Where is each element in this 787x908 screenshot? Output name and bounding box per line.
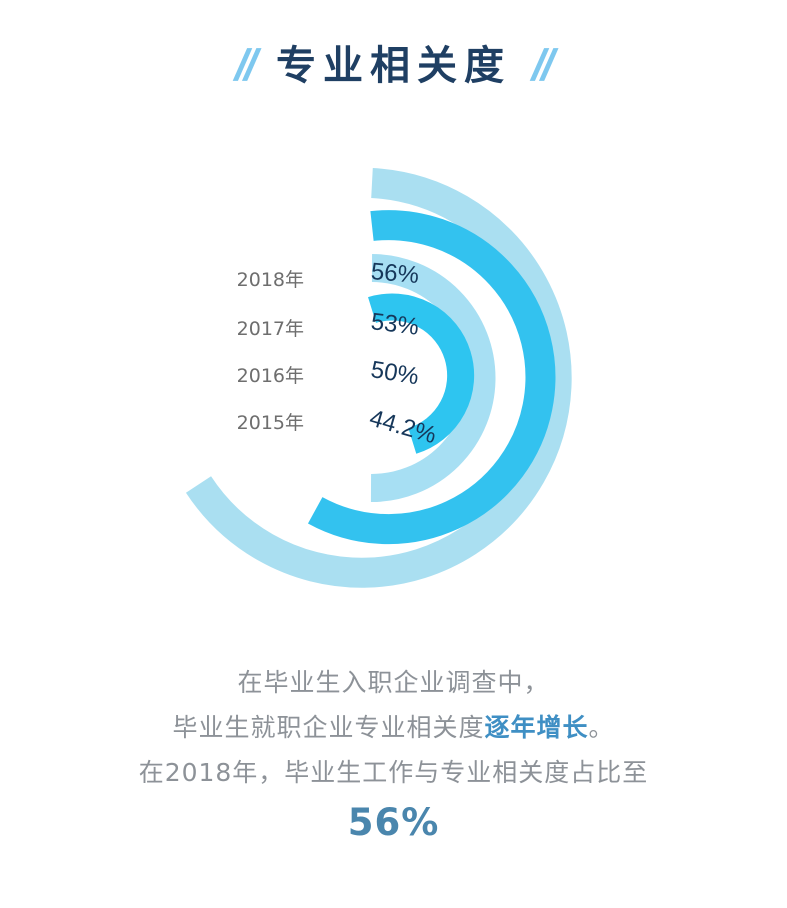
radial-bar-chart: 2018年 2017年 2016年 2015年 56% 53% 50% 44.2…: [0, 118, 787, 638]
year-label-2016: 2016年: [224, 361, 304, 388]
title-label: 专业相关度: [276, 46, 511, 86]
caption-line-3: 在2018年，毕业生工作与专业相关度占比至: [0, 750, 787, 795]
year-label-2018: 2018年: [224, 265, 304, 292]
caption-highlight: 逐年增长: [484, 713, 588, 742]
caption-line-1: 在毕业生入职企业调查中，: [0, 660, 787, 705]
value-label-2018: 56%: [370, 258, 420, 290]
year-label-2015: 2015年: [224, 408, 304, 435]
caption-line-2: 毕业生就职企业专业相关度逐年增长。: [0, 705, 787, 750]
slash-right-icon: //: [528, 44, 557, 88]
slash-left-icon: //: [230, 44, 259, 88]
caption-line-2-prefix: 毕业生就职企业专业相关度: [172, 713, 484, 742]
page-title: // 专业相关度 //: [0, 0, 787, 88]
value-label-2017: 53%: [369, 308, 420, 342]
year-label-2017: 2017年: [224, 314, 304, 341]
caption-block: 在毕业生入职企业调查中， 毕业生就职企业专业相关度逐年增长。 在2018年，毕业…: [0, 660, 787, 851]
caption-big-value: 56%: [0, 795, 787, 851]
caption-line-2-suffix: 。: [589, 713, 615, 742]
